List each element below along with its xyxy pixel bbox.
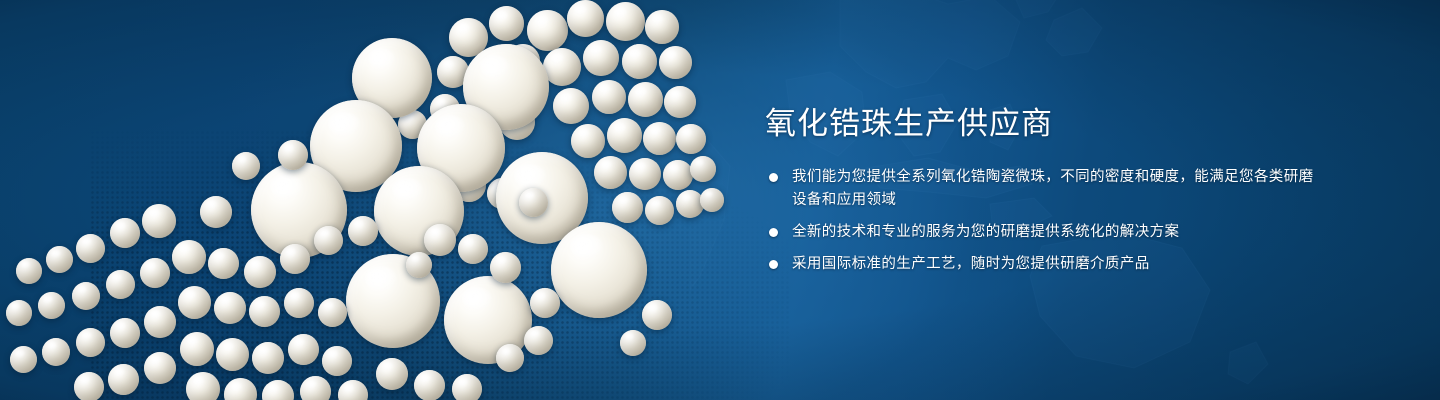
feature-list: 我们能为您提供全系列氧化锆陶瓷微珠，不同的密度和硬度，能满足您各类研磨设备和应用… [765, 166, 1325, 276]
bullet-dot-icon [769, 173, 778, 182]
list-item-label: 全新的技术和专业的服务为您的研磨提供系统化的解决方案 [792, 224, 1179, 240]
list-item: 全新的技术和专业的服务为您的研磨提供系统化的解决方案 [765, 221, 1325, 244]
hero-banner: 氧化锆珠生产供应商 我们能为您提供全系列氧化锆陶瓷微珠，不同的密度和硬度，能满足… [0, 0, 1440, 400]
bullet-dot-icon [769, 260, 778, 269]
list-item: 我们能为您提供全系列氧化锆陶瓷微珠，不同的密度和硬度，能满足您各类研磨设备和应用… [765, 166, 1325, 212]
banner-copy: 氧化锆珠生产供应商 我们能为您提供全系列氧化锆陶瓷微珠，不同的密度和硬度，能满足… [765, 104, 1325, 276]
list-item: 采用国际标准的生产工艺，随时为您提供研磨介质产品 [765, 253, 1325, 276]
list-item-label: 我们能为您提供全系列氧化锆陶瓷微珠，不同的密度和硬度，能满足您各类研磨设备和应用… [792, 169, 1314, 208]
zirconia-beads-image [0, 0, 760, 400]
bullet-dot-icon [769, 228, 778, 237]
list-item-label: 采用国际标准的生产工艺，随时为您提供研磨介质产品 [792, 256, 1150, 272]
page-title: 氧化锆珠生产供应商 [765, 104, 1325, 144]
